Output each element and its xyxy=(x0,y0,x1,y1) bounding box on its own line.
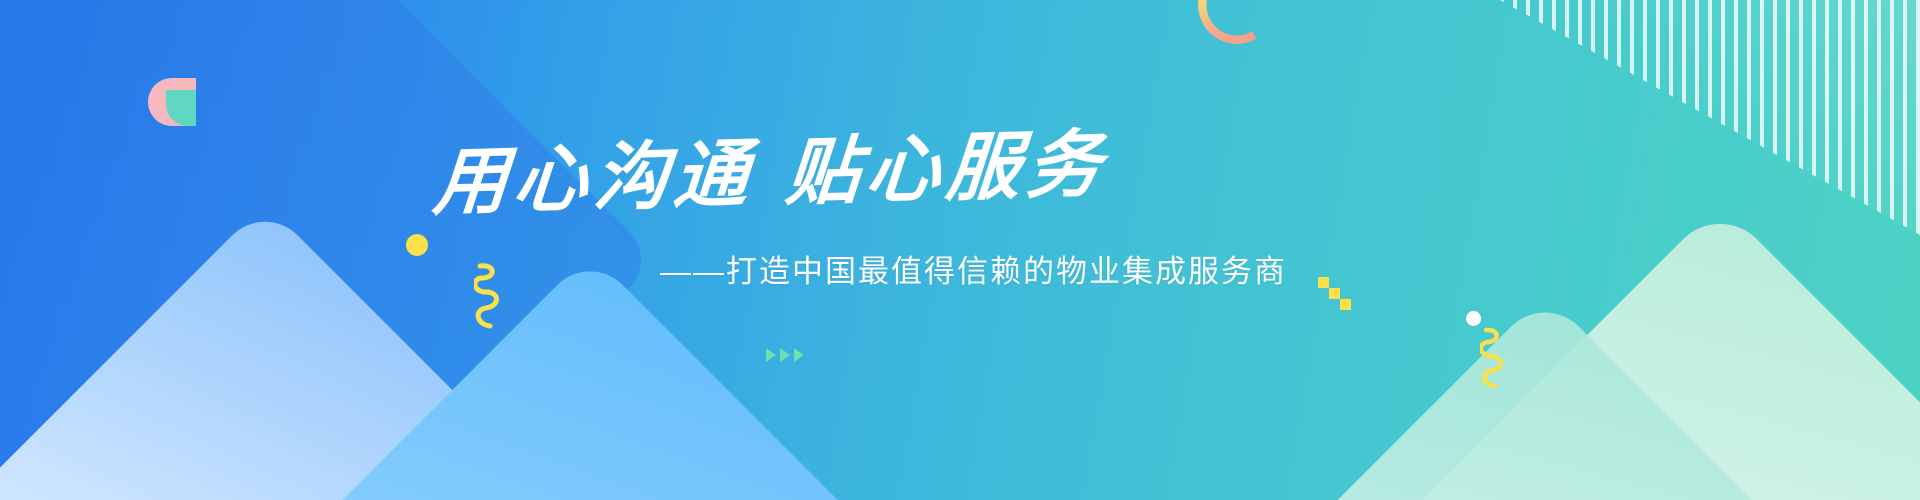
svg-text:用心沟通 贴心服务: 用心沟通 贴心服务 xyxy=(429,121,1113,226)
banner-headline: 用心沟通 贴心服务 xyxy=(440,128,1140,228)
banner-text-block: 用心沟通 贴心服务 ——打造中国最值得信赖的物业集成服务商 xyxy=(0,0,1920,500)
promo-banner: 用心沟通 贴心服务 ——打造中国最值得信赖的物业集成服务商 xyxy=(0,0,1920,500)
banner-subtitle: ——打造中国最值得信赖的物业集成服务商 xyxy=(660,246,1287,291)
